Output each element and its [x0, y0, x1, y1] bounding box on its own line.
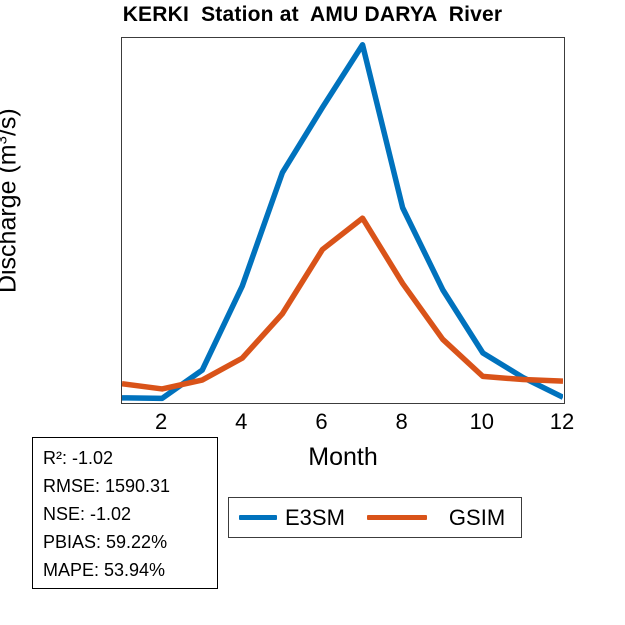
- x-axis-label: Month: [231, 443, 455, 472]
- x-tick-label: 4: [211, 409, 271, 435]
- x-tick-label: 2: [131, 409, 191, 435]
- stat-line: R²: -1.02: [43, 444, 217, 472]
- x-tick-label: 8: [372, 409, 432, 435]
- x-tick-label: 6: [291, 409, 351, 435]
- x-tick-label: 12: [532, 409, 592, 435]
- plot-area: [121, 37, 565, 404]
- y-axis-label-tail: /s): [0, 108, 22, 136]
- y-axis-label-base: Discharge (m: [0, 144, 22, 293]
- legend-label-e3sm: E3SM: [285, 505, 345, 531]
- x-tick-label: 10: [452, 409, 512, 435]
- y-axis-label: Discharge (m3/s): [0, 1, 23, 401]
- legend-swatch-gsim: [367, 515, 427, 520]
- legend-entry-gsim[interactable]: GSIM: [345, 498, 505, 537]
- stat-line: PBIAS: 59.22%: [43, 528, 217, 556]
- stat-line: RMSE: 1590.31: [43, 472, 217, 500]
- legend-swatch-e3sm: [239, 515, 277, 520]
- chart-figure: KERKI Station at AMU DARYA River Dischar…: [0, 0, 625, 625]
- chart-title: KERKI Station at AMU DARYA River: [0, 3, 625, 27]
- legend-entry-e3sm[interactable]: E3SM: [229, 498, 345, 537]
- legend-label-gsim: GSIM: [449, 505, 505, 531]
- series-line-e3sm: [122, 45, 563, 399]
- statistics-annotation-box: R²: -1.02RMSE: 1590.31NSE: -1.02PBIAS: 5…: [32, 437, 218, 589]
- stat-line: MAPE: 53.94%: [43, 556, 217, 584]
- series-canvas: [122, 38, 563, 402]
- y-axis-label-exponent: 3: [0, 136, 10, 144]
- stat-line: NSE: -1.02: [43, 500, 217, 528]
- chart-legend: E3SM GSIM: [228, 497, 522, 538]
